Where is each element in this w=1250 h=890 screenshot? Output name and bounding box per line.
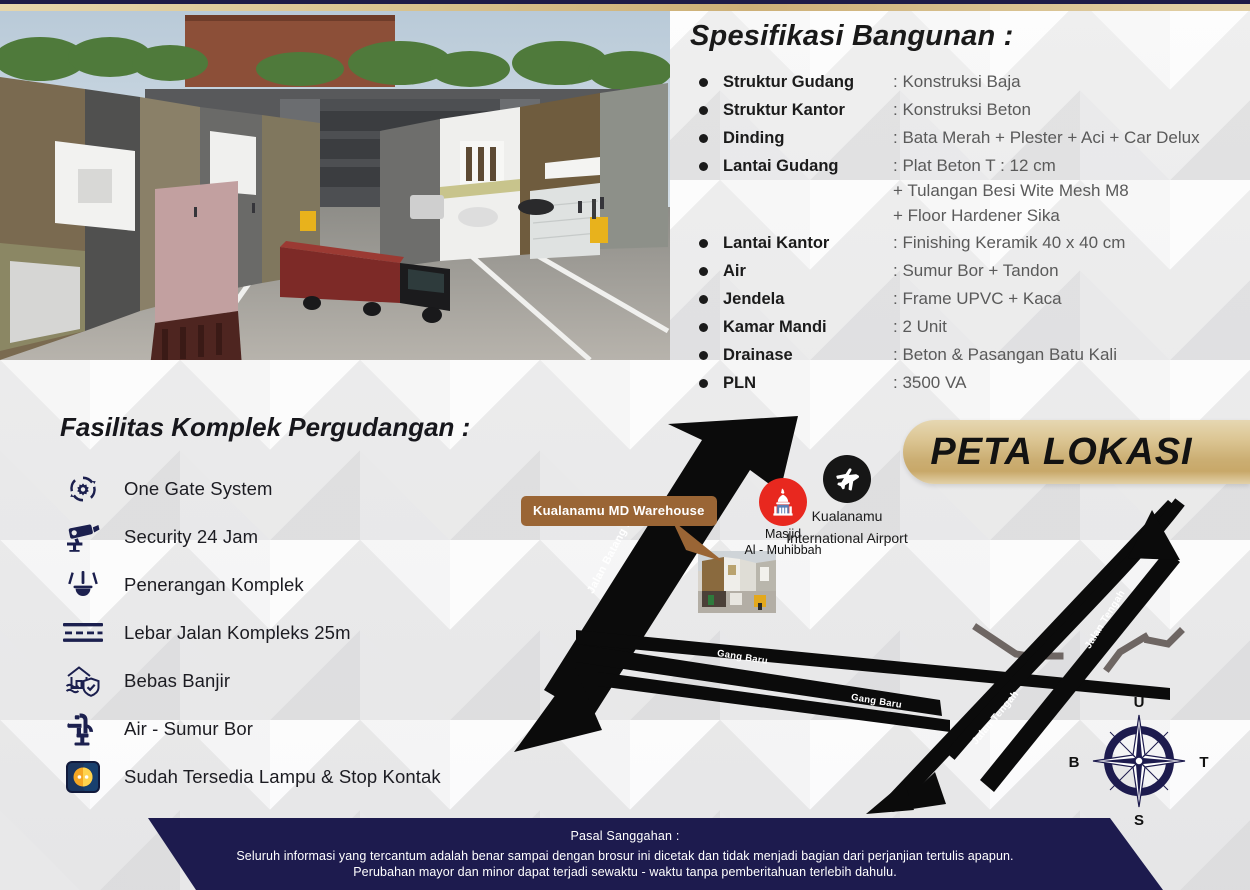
spec-row: Kamar Mandi : 2 Unit bbox=[690, 314, 1250, 340]
spec-key: Kamar Mandi bbox=[723, 314, 893, 340]
facility-item: Sudah Tersedia Lampu & Stop Kontak bbox=[60, 753, 580, 801]
disclaimer-footer: Pasal Sanggahan : Seluruh informasi yang… bbox=[0, 818, 1250, 890]
spec-value: : Sumur Bor + Tandon bbox=[893, 258, 1059, 283]
facility-label: Lebar Jalan Kompleks 25m bbox=[124, 622, 351, 644]
facility-item: Security 24 Jam bbox=[60, 513, 580, 561]
spec-value: : Finishing Keramik 40 x 40 cm bbox=[893, 230, 1125, 255]
spec-row: Jendela : Frame UPVC + Kaca bbox=[690, 286, 1250, 312]
road-icon bbox=[60, 621, 106, 645]
bullet-icon bbox=[699, 134, 708, 143]
facility-item: One Gate System bbox=[60, 465, 580, 513]
spec-value-line: + Floor Hardener Sika bbox=[893, 203, 1129, 228]
facilities-title: Fasilitas Komplek Pergudangan : bbox=[60, 412, 580, 443]
poi-airport-label-line1: Kualanamu bbox=[786, 508, 908, 525]
top-gold-strip bbox=[0, 4, 1250, 11]
spec-value-line: : Plat Beton T : 12 cm bbox=[893, 153, 1129, 178]
compass-west: B bbox=[1069, 754, 1080, 771]
spec-row: Lantai Kantor : Finishing Keramik 40 x 4… bbox=[690, 230, 1250, 256]
flood-shield-icon bbox=[60, 664, 106, 698]
spec-value: : Konstruksi Baja bbox=[893, 69, 1021, 94]
compass-rose: U S B T bbox=[1068, 693, 1210, 828]
compass-east: T bbox=[1199, 754, 1208, 771]
spec-row: Struktur Kantor : Konstruksi Beton bbox=[690, 97, 1250, 123]
facility-item: Lebar Jalan Kompleks 25m bbox=[60, 609, 580, 657]
bullet-icon bbox=[699, 162, 708, 171]
spec-key: Lantai Gudang bbox=[723, 153, 893, 179]
footer-line-2: Perubahan mayor dan minor dapat terjadi … bbox=[353, 864, 897, 880]
spec-title: Spesifikasi Bangunan : bbox=[690, 20, 1250, 53]
spec-value: : 3500 VA bbox=[893, 370, 966, 395]
facility-label: Penerangan Komplek bbox=[124, 574, 304, 596]
bullet-icon bbox=[699, 239, 708, 248]
spec-key: Dinding bbox=[723, 125, 893, 151]
spec-key: Jendela bbox=[723, 286, 893, 312]
spec-row: PLN : 3500 VA bbox=[690, 370, 1250, 396]
facility-item: Penerangan Komplek bbox=[60, 561, 580, 609]
brochure-page: Spesifikasi Bangunan : Struktur Gudang :… bbox=[0, 0, 1250, 890]
spec-value: : Frame UPVC + Kaca bbox=[893, 286, 1062, 311]
spec-key: Struktur Kantor bbox=[723, 97, 893, 123]
gear-refresh-icon bbox=[60, 472, 106, 506]
facility-label: Security 24 Jam bbox=[124, 526, 258, 548]
warehouse-callout-tooltip[interactable]: Kualanamu MD Warehouse bbox=[521, 496, 717, 526]
water-pump-icon bbox=[60, 712, 106, 746]
power-outlet-icon bbox=[60, 760, 106, 794]
airplane-icon bbox=[823, 455, 871, 503]
spec-value-multiline: : Plat Beton T : 12 cm + Tulangan Besi W… bbox=[893, 153, 1129, 228]
poi-airport[interactable]: Kualanamu International Airport bbox=[786, 455, 908, 547]
specification-panel: Spesifikasi Bangunan : Struktur Gudang :… bbox=[690, 20, 1250, 398]
spec-key: Air bbox=[723, 258, 893, 284]
bullet-icon bbox=[699, 267, 708, 276]
peta-lokasi-label: PETA LOKASI bbox=[930, 431, 1222, 474]
facility-label: One Gate System bbox=[124, 478, 273, 500]
footer-line-1: Seluruh informasi yang tercantum adalah … bbox=[236, 848, 1013, 864]
facility-item: Air - Sumur Bor bbox=[60, 705, 580, 753]
facility-label: Bebas Banjir bbox=[124, 670, 230, 692]
spec-value: : 2 Unit bbox=[893, 314, 947, 339]
footer-text-block: Pasal Sanggahan : Seluruh informasi yang… bbox=[0, 818, 1250, 890]
spec-row: Struktur Gudang : Konstruksi Baja bbox=[690, 69, 1250, 95]
bullet-icon bbox=[699, 295, 708, 304]
poi-airport-label-line2: International Airport bbox=[786, 530, 908, 547]
spec-value: : Beton & Pasangan Batu Kali bbox=[893, 342, 1117, 367]
peta-lokasi-banner: PETA LOKASI bbox=[903, 420, 1250, 484]
spec-row: Dinding : Bata Merah + Plester + Aci + C… bbox=[690, 125, 1250, 151]
compass-north: U bbox=[1134, 694, 1145, 711]
spec-key: Lantai Kantor bbox=[723, 230, 893, 256]
spec-row: Drainase : Beton & Pasangan Batu Kali bbox=[690, 342, 1250, 368]
spec-value: : Konstruksi Beton bbox=[893, 97, 1031, 122]
spec-row: Lantai Gudang : Plat Beton T : 12 cm + T… bbox=[690, 153, 1250, 228]
facility-label: Sudah Tersedia Lampu & Stop Kontak bbox=[124, 766, 441, 788]
spec-value: : Bata Merah + Plester + Aci + Car Delux bbox=[893, 125, 1200, 150]
footer-heading: Pasal Sanggahan : bbox=[570, 829, 679, 843]
facilities-panel: Fasilitas Komplek Pergudangan : One Gate… bbox=[60, 412, 580, 801]
facility-item: Bebas Banjir bbox=[60, 657, 580, 705]
spec-key: Drainase bbox=[723, 342, 893, 368]
hero-warehouse-photo bbox=[0, 11, 670, 360]
bullet-icon bbox=[699, 351, 708, 360]
spec-row: Air : Sumur Bor + Tandon bbox=[690, 258, 1250, 284]
facility-label: Air - Sumur Bor bbox=[124, 718, 253, 740]
bullet-icon bbox=[699, 78, 708, 87]
spec-key: Struktur Gudang bbox=[723, 69, 893, 95]
street-lamp-icon bbox=[60, 570, 106, 600]
bullet-icon bbox=[699, 323, 708, 332]
cctv-camera-icon bbox=[60, 522, 106, 552]
spec-value-line: + Tulangan Besi Wite Mesh M8 bbox=[893, 178, 1129, 203]
bullet-icon bbox=[699, 379, 708, 388]
bullet-icon bbox=[699, 106, 708, 115]
spec-key: PLN bbox=[723, 370, 893, 396]
